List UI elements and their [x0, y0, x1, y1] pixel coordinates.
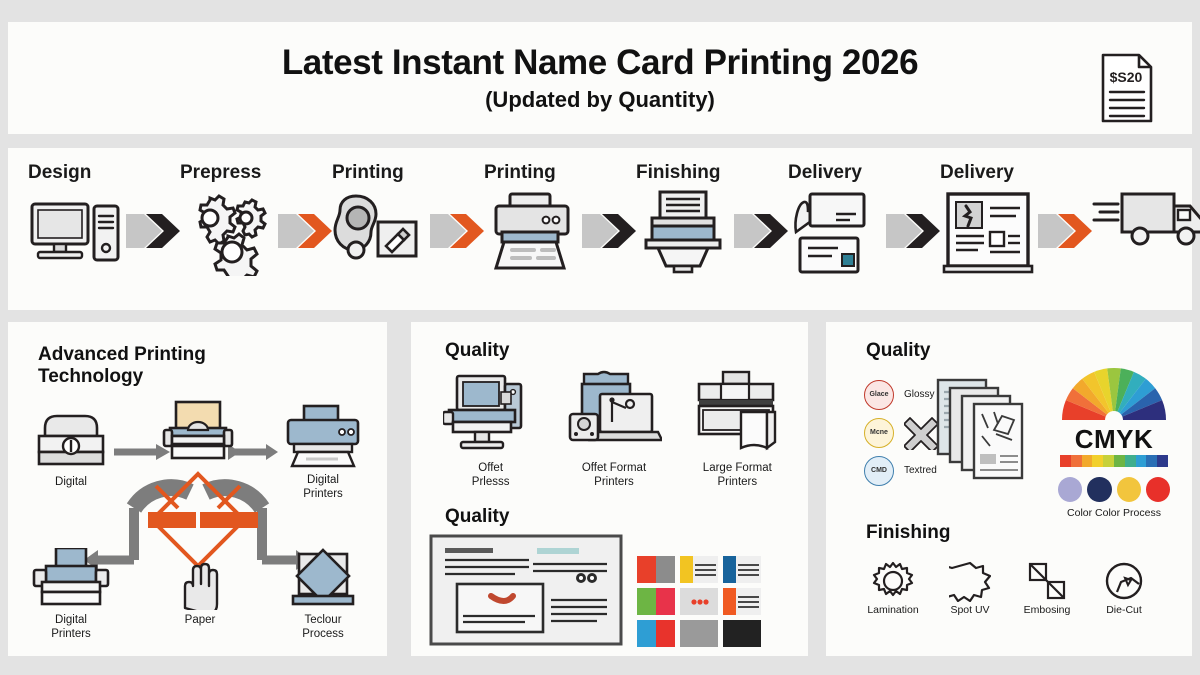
finishing-option-label: Embosing — [1014, 604, 1080, 617]
paper-stack-icon — [936, 378, 1026, 482]
badge-circle-glace: Glace — [864, 380, 894, 410]
strip-swatch — [1136, 455, 1147, 467]
printer-item-offset-format[interactable]: Offet FormatPrinters — [556, 370, 672, 490]
panel-title-quality: Quality — [866, 340, 930, 362]
printers-row: OffetPrlesss Offet FormatPrinters — [429, 370, 799, 490]
technology-diagram: Digital — [22, 400, 374, 646]
printer-item-offset-press[interactable]: OffetPrlesss — [433, 370, 549, 490]
badge-label: Textred — [904, 465, 937, 476]
business-card-layout-icon — [429, 534, 623, 646]
process-color-dots — [1058, 477, 1170, 502]
cmyk-block: CMYK Color Color Process — [1058, 366, 1170, 519]
diamond-plate-icon — [285, 548, 361, 610]
desktop-computer-icon — [28, 190, 124, 276]
panel-title-quality-top: Quality — [445, 340, 509, 362]
strip-swatch — [1114, 455, 1125, 467]
finishing-options-row: Lamination Spot UV Embosing Die-Cut — [860, 560, 1157, 617]
cmyk-caption: Color Color Process — [1058, 507, 1170, 519]
panel-quality-finishing: Quality Glace Glossy Mcne CMD Textred — [826, 322, 1192, 656]
badge-row-glossy[interactable]: Glace Glossy — [864, 378, 938, 411]
finishing-option-label: Spot UV — [937, 604, 1003, 617]
tech-node-label: DigitalPrinters — [280, 473, 366, 502]
offset-press-icon — [443, 370, 539, 456]
finishing-option-lamination[interactable]: Lamination — [860, 560, 926, 617]
panel-title: Advanced Printing Technology — [38, 344, 206, 389]
cmyk-label: CMYK — [1058, 426, 1170, 452]
printer-item-label: OffetPrlesss — [433, 461, 549, 490]
process-arrow-orange — [1036, 188, 1092, 274]
swatch-cell[interactable] — [637, 588, 675, 615]
hand-envelope-icon — [788, 190, 884, 276]
printer-item-label: Offet FormatPrinters — [556, 461, 672, 490]
panel-title-line2: Technology — [38, 366, 143, 387]
quality-samples-row — [429, 534, 801, 647]
process-step-label: Printing — [484, 162, 580, 184]
cmyk-color-strip — [1060, 455, 1168, 467]
header-banner: Latest Instant Name Card Printing 2026 (… — [8, 22, 1192, 134]
process-arrow-orange — [428, 188, 484, 274]
tech-node-label: Digital — [30, 475, 112, 489]
format-printer-icon — [566, 370, 662, 456]
hand-paper-icon — [169, 558, 231, 610]
badge-label: Glossy — [904, 389, 935, 400]
tech-node-digital-printers-right[interactable]: DigitalPrinters — [280, 404, 366, 502]
process-step-label: Prepress — [180, 162, 276, 184]
strip-swatch — [1092, 455, 1103, 467]
tech-node-teclour-process[interactable]: TeclourProcess — [280, 548, 366, 642]
flatbed-press-icon — [162, 400, 234, 464]
badge-circle-mcne: Mcne — [864, 418, 894, 448]
digital-press-icon — [35, 406, 107, 472]
process-dot — [1146, 477, 1170, 502]
swatch-cell[interactable] — [723, 588, 761, 615]
offset-printer-icon — [32, 548, 110, 610]
page-title: Latest Instant Name Card Printing 2026 — [8, 43, 1192, 82]
tech-node-digital-printers-left[interactable]: DigitalPrinters — [28, 548, 114, 642]
printer-item-label: Large FormatPrinters — [679, 461, 795, 490]
delivery-truck-icon — [1092, 188, 1200, 250]
strip-swatch — [1071, 455, 1082, 467]
strip-swatch — [1060, 455, 1071, 467]
panel-advanced-printing-technology: Advanced Printing Technology — [8, 322, 387, 656]
strip-swatch — [1082, 455, 1093, 467]
finishing-option-die-cut[interactable]: Die-Cut — [1091, 560, 1157, 617]
inkjet-printer-icon — [284, 404, 362, 470]
swatch-cell[interactable] — [723, 556, 761, 583]
process-arrow-orange — [276, 188, 332, 274]
swatch-cell[interactable] — [723, 620, 761, 647]
process-step-truck[interactable] — [1092, 188, 1200, 250]
process-step-prepress[interactable]: Prepress — [180, 162, 276, 276]
poster-layout-icon — [940, 190, 1036, 276]
process-step-delivery-envelope[interactable]: Delivery — [788, 162, 884, 276]
swatch-cell[interactable] — [637, 556, 675, 583]
printer-icon — [484, 190, 580, 276]
process-arrow-dark — [124, 188, 180, 274]
header-titles: Latest Instant Name Card Printing 2026 (… — [8, 43, 1192, 112]
tech-node-paper[interactable]: Paper — [162, 558, 238, 627]
document-price-icon: $S20 — [1100, 52, 1154, 124]
die-cut-circle-icon — [1103, 560, 1145, 602]
gears-icon — [180, 190, 276, 276]
process-step-finishing[interactable]: Finishing — [636, 162, 732, 276]
process-step-label: Design — [28, 162, 124, 184]
finishing-press-icon — [636, 190, 732, 276]
tech-node-center-press[interactable] — [162, 400, 234, 464]
strip-swatch — [1146, 455, 1157, 467]
strip-swatch — [1157, 455, 1168, 467]
tech-node-label: Paper — [162, 613, 238, 627]
process-dot — [1117, 477, 1141, 502]
color-swatch-grid — [637, 556, 761, 647]
process-step-label: Delivery — [788, 162, 884, 184]
panel-title-line1: Advanced Printing — [38, 344, 206, 365]
printer-item-large-format[interactable]: Large FormatPrinters — [679, 370, 795, 490]
process-dot — [1058, 477, 1082, 502]
tech-node-label: TeclourProcess — [280, 613, 366, 642]
strip-swatch — [1125, 455, 1136, 467]
process-step-label: Finishing — [636, 162, 732, 184]
panel-title-finishing: Finishing — [866, 522, 950, 544]
swatch-cell[interactable] — [637, 620, 675, 647]
swatch-cell[interactable] — [680, 620, 718, 647]
finishing-option-label: Lamination — [860, 604, 926, 617]
finishing-option-label: Die-Cut — [1091, 604, 1157, 617]
badge-row-textured[interactable]: CMD Textred — [864, 454, 938, 487]
large-format-printer-icon — [689, 370, 785, 456]
swatch-cell[interactable] — [680, 588, 718, 615]
swatch-cell[interactable] — [680, 556, 718, 583]
process-arrow-dark — [732, 188, 788, 274]
process-step-printing-printer[interactable]: Printing — [484, 162, 580, 276]
strip-swatch — [1103, 455, 1114, 467]
badge-circle-cmd: CMD — [864, 456, 894, 486]
process-flow-row: Design Prepress — [8, 148, 1192, 310]
process-step-delivery-poster[interactable]: Delivery — [940, 162, 1036, 276]
tech-node-label: DigitalPrinters — [28, 613, 114, 642]
process-arrow-dark — [884, 188, 940, 274]
finishing-option-embossing[interactable]: Embosing — [1014, 560, 1080, 617]
finishing-option-spot-uv[interactable]: Spot UV — [937, 560, 1003, 617]
process-step-label: Printing — [332, 162, 428, 184]
process-step-label: Delivery — [940, 162, 1036, 184]
tech-node-digital[interactable]: Digital — [30, 406, 112, 489]
badge-row-matte[interactable]: Mcne — [864, 416, 938, 449]
plate-setter-icon — [332, 190, 428, 276]
price-amount-text: $S20 — [1110, 69, 1143, 85]
panel-title-quality-bottom: Quality — [445, 506, 509, 528]
process-step-printing-plate[interactable]: Printing — [332, 162, 428, 276]
color-fan-icon — [1060, 366, 1168, 420]
process-arrow-dark — [580, 188, 636, 274]
panel-quality-printers: Quality OffetPrlesss — [411, 322, 808, 656]
process-dot — [1087, 477, 1111, 502]
x-cross-icon — [904, 416, 938, 450]
emboss-squares-icon — [1026, 560, 1068, 602]
process-step-design[interactable]: Design — [28, 162, 124, 276]
gear-outline-icon — [872, 560, 914, 602]
page-subtitle: (Updated by Quantity) — [8, 87, 1192, 113]
starburst-icon — [949, 560, 991, 602]
finish-badges: Glace Glossy Mcne CMD Textred — [864, 378, 938, 492]
